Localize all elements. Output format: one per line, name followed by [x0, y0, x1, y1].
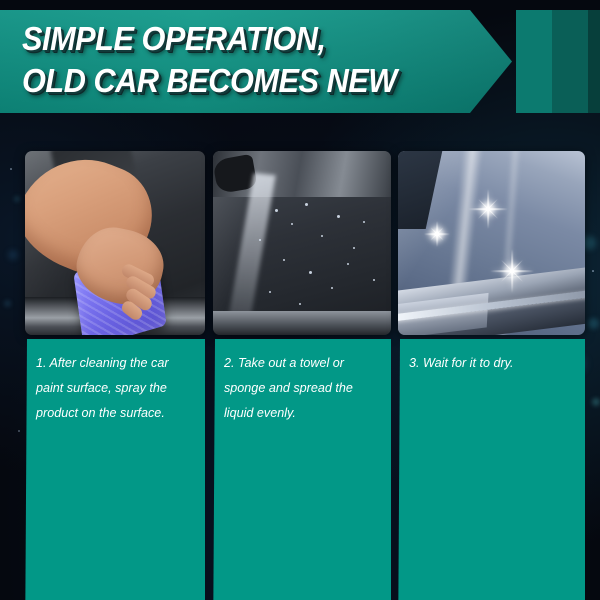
garage-floor [213, 311, 391, 335]
step-2-caption: 2. Take out a towel or sponge and spread… [213, 339, 391, 600]
sparkle-2-icon [424, 221, 450, 247]
step-1-caption: 1. After cleaning the car paint surface,… [25, 339, 205, 600]
step-3-caption: 3. Wait for it to dry. [398, 339, 585, 600]
banner-headline: SIMPLE OPERATION, OLD CAR BECOMES NEW [22, 18, 459, 102]
step-1-photo [25, 151, 205, 335]
banner-headline-line-1: SIMPLE OPERATION, [22, 18, 459, 60]
chevron-3-icon [588, 10, 600, 113]
dark-trim [398, 151, 442, 229]
step-2-photo [213, 151, 391, 335]
step-3-photo [398, 151, 585, 335]
product-infographic: SIMPLE OPERATION, OLD CAR BECOMES NEW 1.… [0, 0, 600, 600]
banner-headline-line-2: OLD CAR BECOMES NEW [22, 60, 459, 102]
